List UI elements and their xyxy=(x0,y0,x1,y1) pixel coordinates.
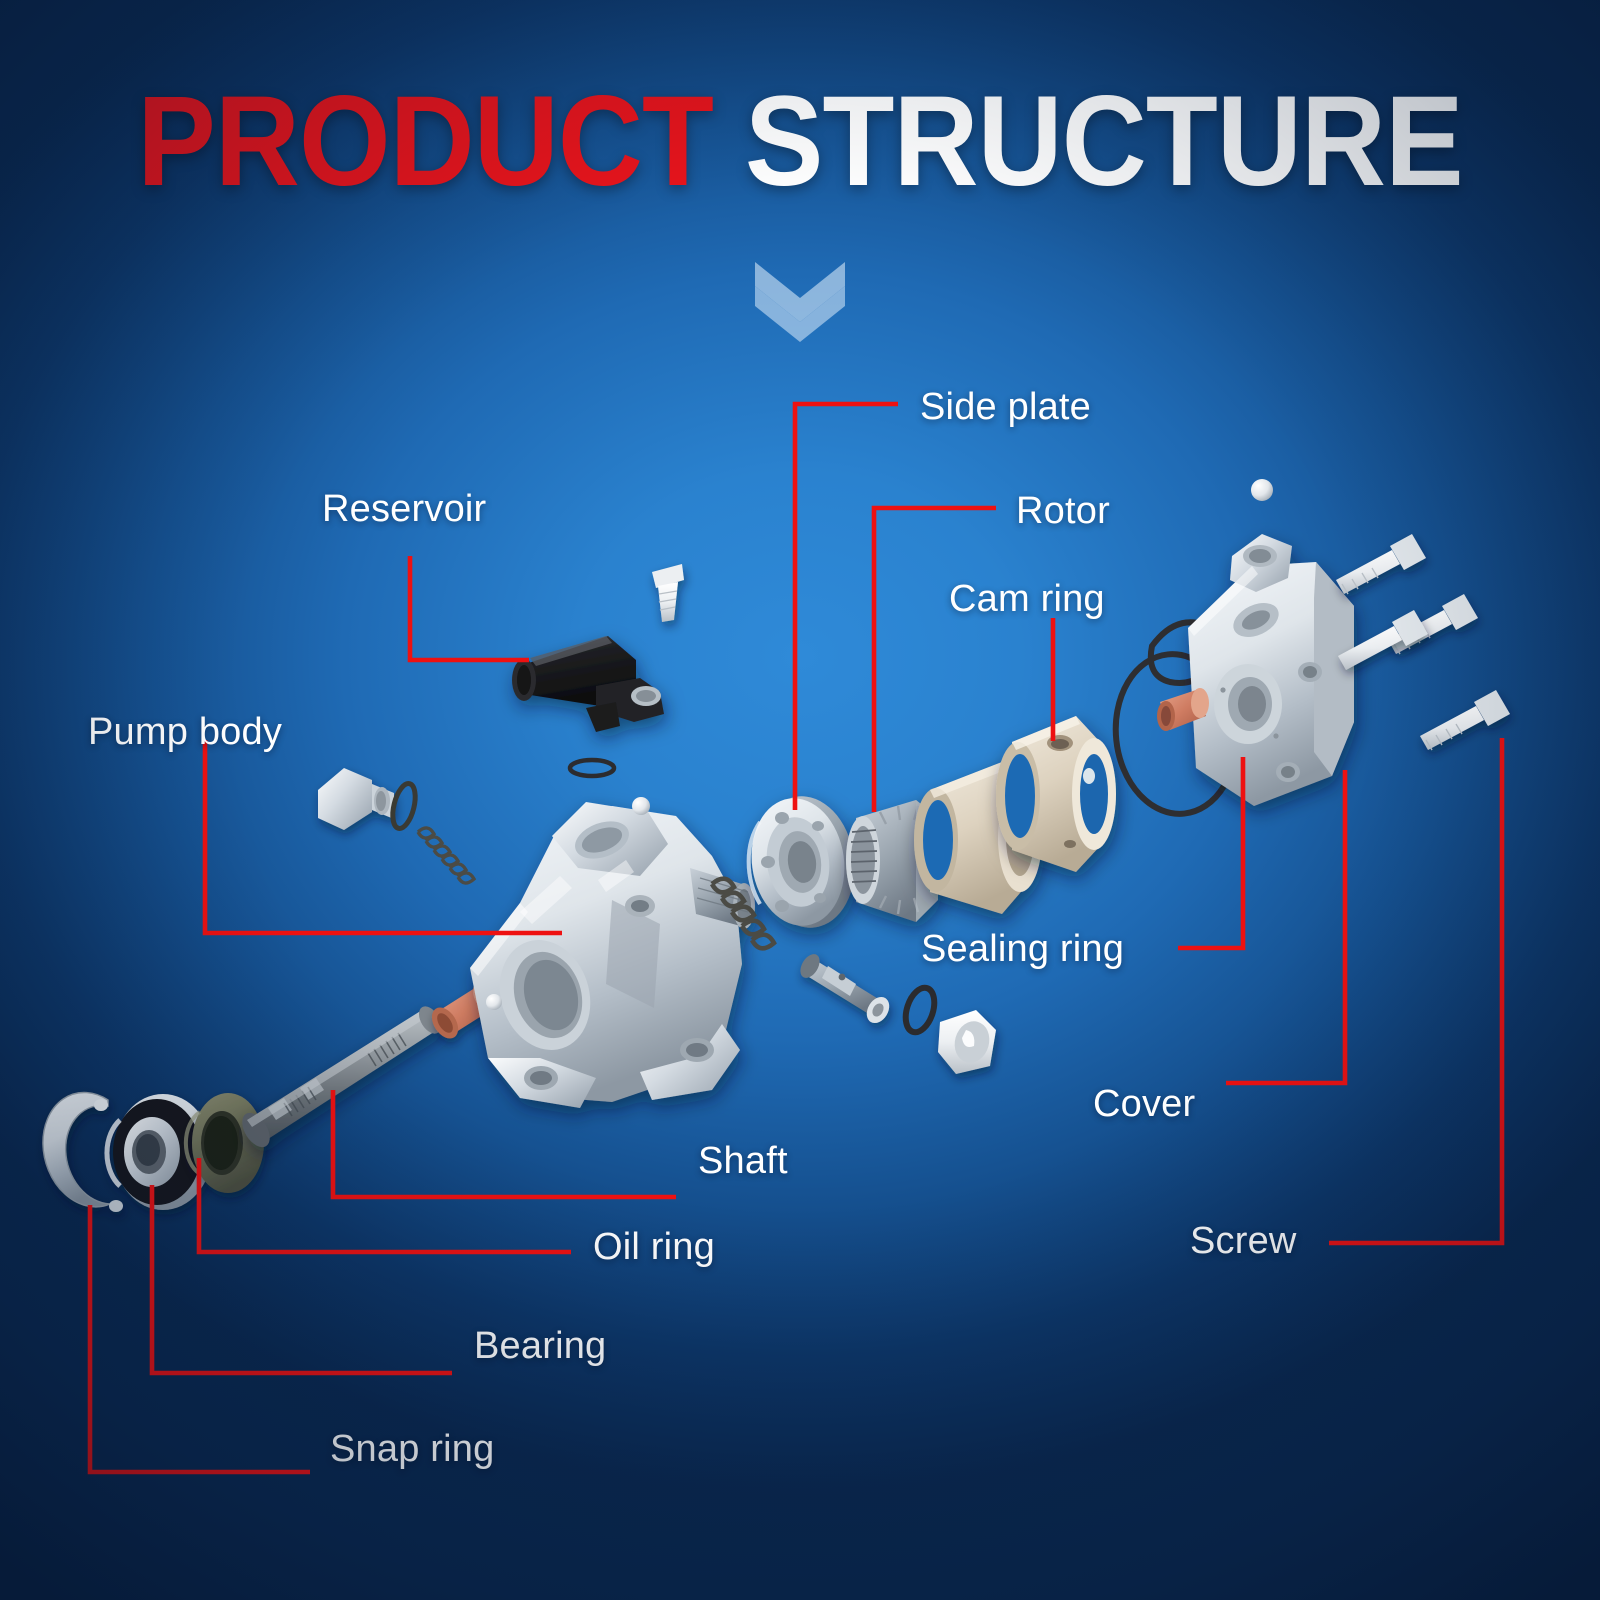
label-cover: Cover xyxy=(1093,1085,1195,1123)
cover-part xyxy=(1188,534,1354,806)
label-cam-ring: Cam ring xyxy=(949,580,1105,618)
snap-ring-part xyxy=(43,1093,123,1212)
label-pump-body: Pump body xyxy=(88,713,282,751)
hex-plug-part xyxy=(318,768,394,830)
reservoir-oring-part xyxy=(570,760,614,776)
label-screw: Screw xyxy=(1190,1222,1297,1260)
label-snap-ring: Snap ring xyxy=(330,1430,494,1468)
ball-detail-3 xyxy=(1251,479,1273,501)
label-side-plate: Side plate xyxy=(920,388,1091,426)
product-structure-diagram: PRODUCT STRUCTURE xyxy=(0,0,1600,1600)
flow-valve-part xyxy=(796,951,893,1027)
label-sealing-ring: Sealing ring xyxy=(921,930,1124,968)
plug-oring-part xyxy=(389,781,420,830)
pump-body-part xyxy=(470,802,755,1108)
label-bearing: Bearing xyxy=(474,1327,606,1365)
reservoir-screw-part xyxy=(652,564,684,622)
screw-bolts-part xyxy=(1336,534,1510,750)
ball-detail xyxy=(486,994,502,1010)
reservoir-part xyxy=(512,636,664,732)
cam-ring-outer-part xyxy=(996,716,1116,872)
label-rotor: Rotor xyxy=(1016,492,1110,530)
ball-detail-2 xyxy=(632,797,650,815)
label-oil-ring: Oil ring xyxy=(593,1228,715,1266)
exploded-view-artwork xyxy=(0,0,1600,1600)
valve-cap-part xyxy=(938,1010,996,1074)
side-plate-part xyxy=(744,790,863,934)
small-spring-part xyxy=(418,828,474,883)
shaft-part xyxy=(237,1003,446,1152)
valve-oring-part xyxy=(901,984,940,1036)
label-reservoir: Reservoir xyxy=(322,490,486,528)
label-shaft: Shaft xyxy=(698,1142,788,1180)
